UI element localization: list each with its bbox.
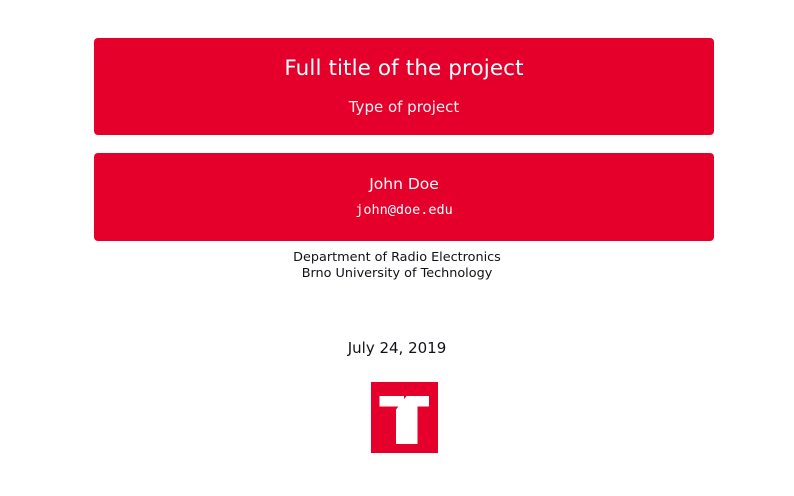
title-block: Full title of the project Type of projec… <box>94 38 714 135</box>
presentation-date: July 24, 2019 <box>0 340 794 357</box>
author-block: John Doe john@doe.edu <box>94 153 714 241</box>
but-t-logo-graphic <box>371 382 438 453</box>
institute-university: Brno University of Technology <box>0 266 794 282</box>
page-subtitle: Type of project <box>335 99 474 116</box>
but-t-logo <box>371 382 438 453</box>
author-email[interactable]: john@doe.edu <box>355 203 453 218</box>
page-title: Full title of the project <box>270 57 537 81</box>
presentation-title-slide: Full title of the project Type of projec… <box>0 0 794 496</box>
author-name: John Doe <box>369 176 439 193</box>
institute-department: Department of Radio Electronics <box>0 250 794 266</box>
institute: Department of Radio Electronics Brno Uni… <box>0 250 794 283</box>
